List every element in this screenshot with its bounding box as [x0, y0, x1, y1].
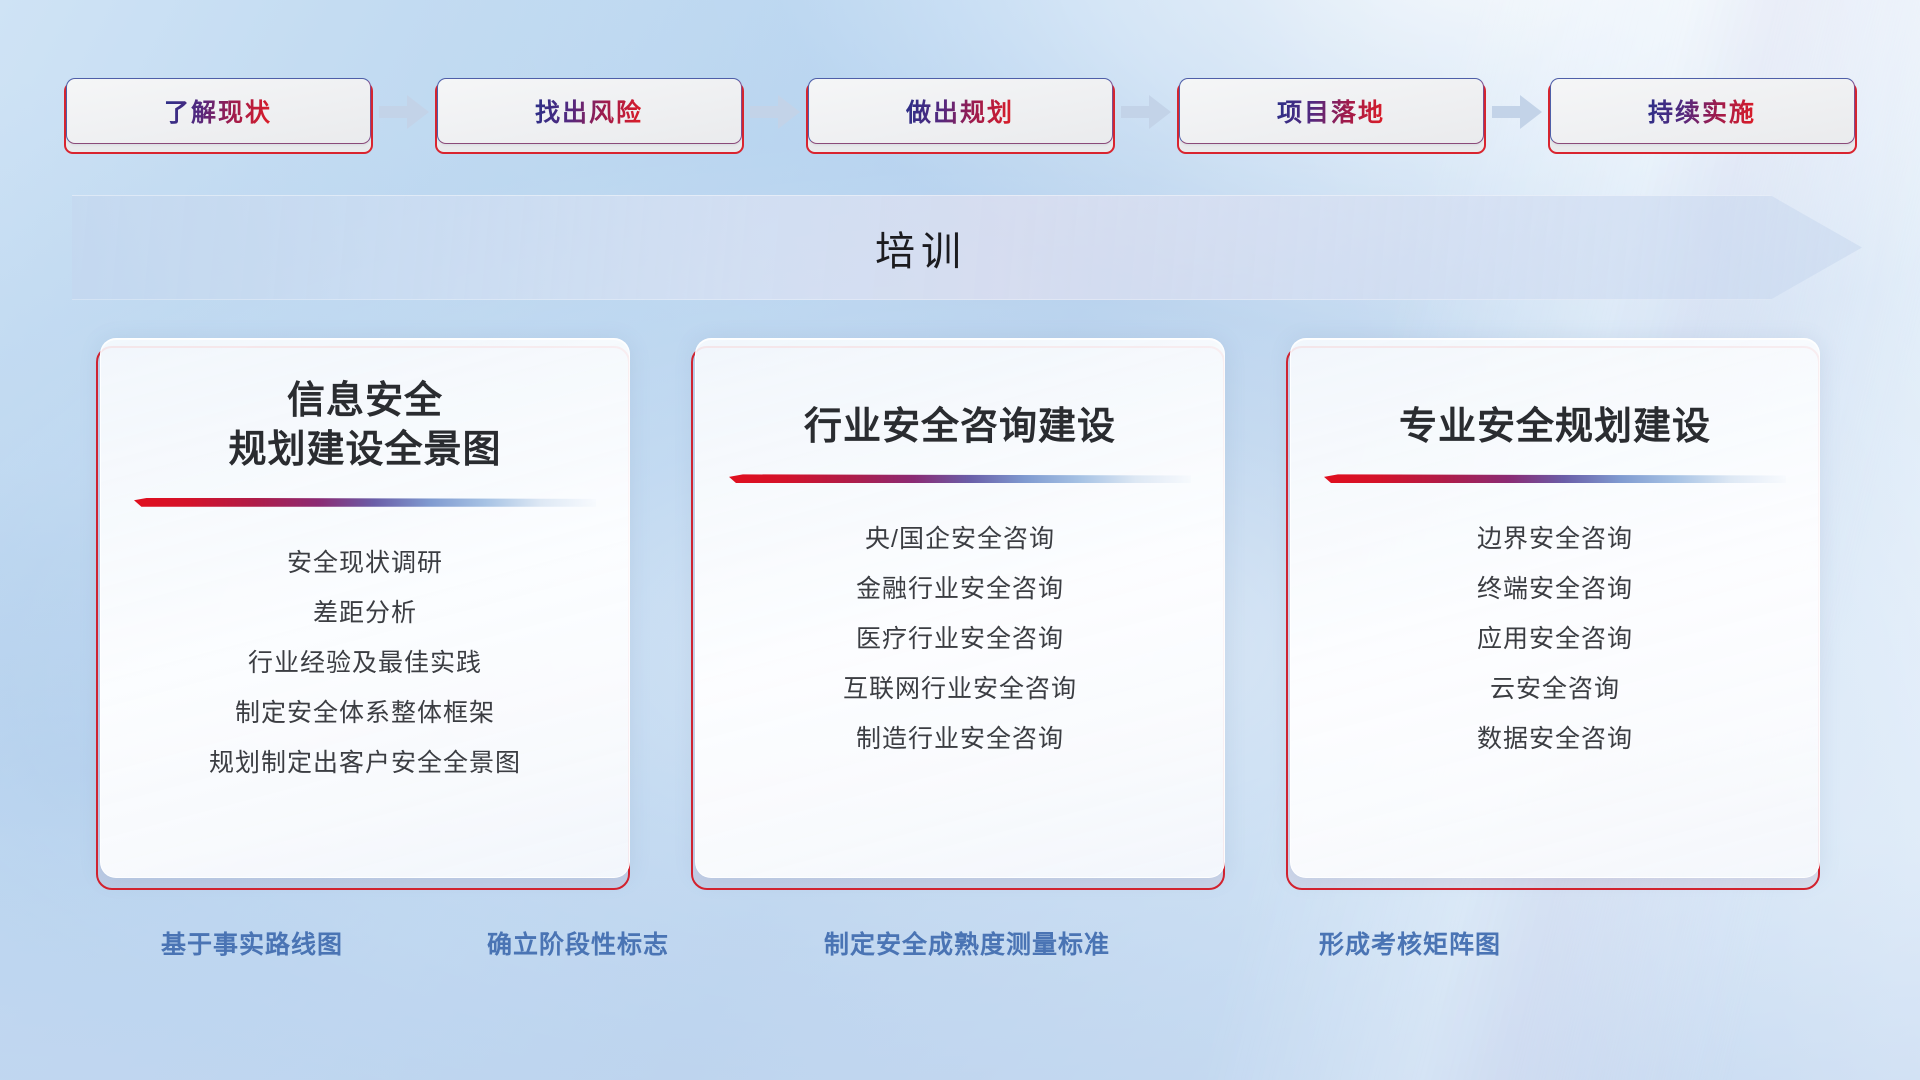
training-banner-label-wrap: 培训	[72, 195, 1862, 300]
card-3-item-1: 边界安全咨询	[1477, 519, 1633, 555]
card-1-item-5: 规划制定出客户安全全景图	[209, 743, 521, 779]
card-3-item-2: 终端安全咨询	[1477, 569, 1633, 605]
card-2-item-3: 医疗行业安全咨询	[856, 619, 1064, 655]
card-2-item-5: 制造行业安全咨询	[856, 719, 1064, 755]
card-3-panel: 专业安全规划建设 边界安全咨询 终端安全咨询 应用安全咨询 云安全咨询 数据安全…	[1290, 338, 1820, 878]
training-banner: 培训	[72, 195, 1862, 300]
card-3-items: 边界安全咨询 终端安全咨询 应用安全咨询 云安全咨询 数据安全咨询	[1477, 519, 1633, 755]
footer-caption-4: 形成考核矩阵图	[1319, 925, 1501, 961]
card-2-item-2: 金融行业安全咨询	[856, 569, 1064, 605]
footer-caption-1: 基于事实路线图	[161, 925, 343, 961]
card-3[interactable]: 专业安全规划建设 边界安全咨询 终端安全咨询 应用安全咨询 云安全咨询 数据安全…	[1290, 338, 1820, 878]
process-flow: 了解现状 找出风险 做出规划	[0, 78, 1920, 146]
process-step-5-face: 持续实施	[1550, 78, 1855, 144]
process-step-1-face: 了解现状	[66, 78, 371, 144]
training-banner-label: 培训	[875, 219, 967, 277]
process-arrow-3-icon	[1117, 92, 1175, 132]
process-step-3-face: 做出规划	[808, 78, 1113, 144]
card-1-item-4: 制定安全体系整体框架	[235, 693, 495, 729]
card-1-item-2: 差距分析	[313, 593, 417, 629]
footer-caption-3: 制定安全成熟度测量标准	[824, 925, 1110, 961]
card-3-item-3: 应用安全咨询	[1477, 619, 1633, 655]
process-arrow-4-icon	[1488, 92, 1546, 132]
card-2-divider	[729, 474, 1191, 483]
process-step-5-label: 持续实施	[1648, 93, 1756, 129]
card-2-items: 央/国企安全咨询 金融行业安全咨询 医疗行业安全咨询 互联网行业安全咨询 制造行…	[843, 519, 1077, 755]
card-2-title: 行业安全咨询建设	[804, 403, 1116, 452]
process-arrow-2-icon	[746, 92, 804, 132]
card-3-item-5: 数据安全咨询	[1477, 719, 1633, 755]
card-1[interactable]: 信息安全 规划建设全景图 安全现状调研 差距分析 行业经验及最佳实践 制定安全体…	[100, 338, 630, 878]
process-step-2[interactable]: 找出风险	[437, 78, 742, 146]
process-step-5[interactable]: 持续实施	[1550, 78, 1855, 146]
process-step-1-label: 了解现状	[164, 93, 272, 129]
card-1-title: 信息安全 规划建设全景图	[228, 377, 501, 476]
process-step-3[interactable]: 做出规划	[808, 78, 1113, 146]
process-step-4-label: 项目落地	[1277, 93, 1385, 129]
card-2-item-4: 互联网行业安全咨询	[843, 669, 1077, 705]
process-step-1[interactable]: 了解现状	[66, 78, 371, 146]
card-3-divider	[1324, 474, 1786, 483]
card-2-panel: 行业安全咨询建设 央/国企安全咨询 金融行业安全咨询 医疗行业安全咨询 互联网行…	[695, 338, 1225, 878]
card-1-item-3: 行业经验及最佳实践	[248, 643, 482, 679]
card-1-panel: 信息安全 规划建设全景图 安全现状调研 差距分析 行业经验及最佳实践 制定安全体…	[100, 338, 630, 878]
cards-row: 信息安全 规划建设全景图 安全现状调研 差距分析 行业经验及最佳实践 制定安全体…	[0, 338, 1920, 878]
process-step-4-face: 项目落地	[1179, 78, 1484, 144]
process-step-4[interactable]: 项目落地	[1179, 78, 1484, 146]
card-1-items: 安全现状调研 差距分析 行业经验及最佳实践 制定安全体系整体框架 规划制定出客户…	[209, 543, 521, 779]
card-3-item-4: 云安全咨询	[1490, 669, 1620, 705]
footer-captions: 基于事实路线图 确立阶段性标志 制定安全成熟度测量标准 形成考核矩阵图	[0, 925, 1920, 971]
card-3-title: 专业安全规划建设	[1399, 403, 1711, 452]
card-1-divider	[134, 498, 596, 507]
card-1-item-1: 安全现状调研	[287, 543, 443, 579]
card-2-item-1: 央/国企安全咨询	[865, 519, 1055, 555]
process-arrow-1-icon	[375, 92, 433, 132]
footer-caption-2: 确立阶段性标志	[487, 925, 669, 961]
card-2[interactable]: 行业安全咨询建设 央/国企安全咨询 金融行业安全咨询 医疗行业安全咨询 互联网行…	[695, 338, 1225, 878]
process-step-3-label: 做出规划	[906, 93, 1014, 129]
process-step-2-face: 找出风险	[437, 78, 742, 144]
process-step-2-label: 找出风险	[535, 93, 643, 129]
slide-canvas: 了解现状 找出风险 做出规划	[0, 0, 1920, 1080]
